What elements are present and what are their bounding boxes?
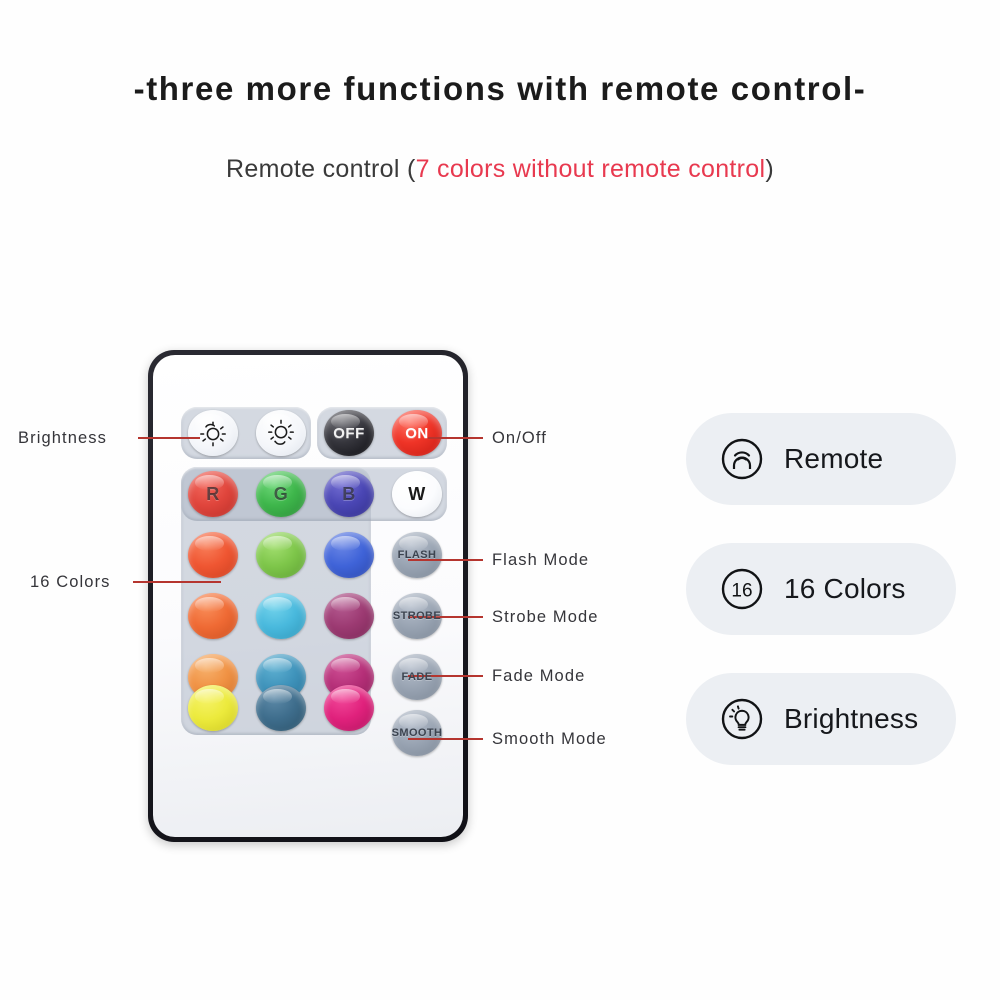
brightness-up-button[interactable] [188, 410, 238, 456]
strobe-mode-label: STROBE [393, 610, 441, 622]
feature-badge-16-colors-label: 16 Colors [784, 573, 906, 605]
feature-badge-brightness-label: Brightness [784, 703, 918, 735]
color-swatch-2[interactable] [256, 532, 306, 578]
sun-up-icon [198, 418, 228, 448]
annotation-flash-mode: Flash Mode [492, 551, 589, 570]
power-on-label: ON [405, 425, 429, 442]
remote-control-device: OFF ON R G B W [148, 350, 468, 842]
feature-badge-remote[interactable]: Remote [686, 413, 956, 505]
product-infographic: -three more functions with remote contro… [0, 0, 1000, 1000]
flash-mode-button[interactable]: FLASH [392, 532, 442, 578]
remote-faceplate: OFF ON R G B W [153, 355, 463, 837]
flash-mode-label: FLASH [398, 549, 437, 561]
annotation-brightness-leader [138, 437, 200, 439]
remote-signal-icon [720, 437, 764, 481]
color-swatch-4[interactable] [188, 593, 238, 639]
feature-badge-16-colors[interactable]: 16 16 Colors [686, 543, 956, 635]
color-button-red[interactable]: R [188, 471, 238, 517]
color-swatch-10[interactable] [188, 685, 238, 731]
sun-down-icon [266, 418, 296, 448]
lightbulb-icon [720, 697, 764, 741]
color-button-white-label: W [408, 484, 426, 505]
fade-mode-button[interactable]: FADE [392, 654, 442, 700]
color-swatch-6[interactable] [324, 593, 374, 639]
subtitle-tail: ) [765, 155, 774, 183]
annotation-brightness: Brightness [18, 429, 107, 448]
annotation-on-off: On/Off [492, 429, 547, 448]
sixteen-circle-icon: 16 [720, 567, 764, 611]
color-swatch-12[interactable] [324, 685, 374, 731]
subtitle-lead: Remote control ( [226, 155, 416, 183]
brightness-down-button[interactable] [256, 410, 306, 456]
color-swatch-1[interactable] [188, 532, 238, 578]
power-off-button[interactable]: OFF [324, 410, 374, 456]
annotation-smooth-mode: Smooth Mode [492, 730, 607, 749]
annotation-fade-mode: Fade Mode [492, 667, 585, 686]
strobe-mode-button[interactable]: STROBE [392, 593, 442, 639]
feature-badge-brightness[interactable]: Brightness [686, 673, 956, 765]
color-button-white[interactable]: W [392, 471, 442, 517]
color-button-green[interactable]: G [256, 471, 306, 517]
smooth-mode-button[interactable]: SMOOTH [392, 710, 442, 756]
annotation-16-colors-leader [133, 581, 221, 583]
power-on-button[interactable]: ON [392, 410, 442, 456]
color-swatch-5[interactable] [256, 593, 306, 639]
color-swatch-11[interactable] [256, 685, 306, 731]
annotation-16-colors: 16 Colors [30, 573, 111, 592]
color-button-blue[interactable]: B [324, 471, 374, 517]
power-off-label: OFF [333, 425, 365, 442]
page-subtitle: Remote control (7 colors without remote … [0, 155, 1000, 184]
smooth-mode-label: SMOOTH [392, 727, 442, 739]
sixteen-icon-text: 16 [731, 581, 752, 602]
color-button-red-label: R [206, 484, 220, 505]
color-swatch-3[interactable] [324, 532, 374, 578]
annotation-on-off-leader [428, 437, 483, 439]
annotation-strobe-mode: Strobe Mode [492, 608, 599, 627]
fade-mode-label: FADE [402, 671, 433, 683]
page-title: -three more functions with remote contro… [0, 70, 1000, 108]
feature-badge-remote-label: Remote [784, 443, 883, 475]
color-button-blue-label: B [342, 484, 356, 505]
subtitle-accent: 7 colors without remote control [416, 155, 766, 183]
color-button-green-label: G [274, 484, 289, 505]
